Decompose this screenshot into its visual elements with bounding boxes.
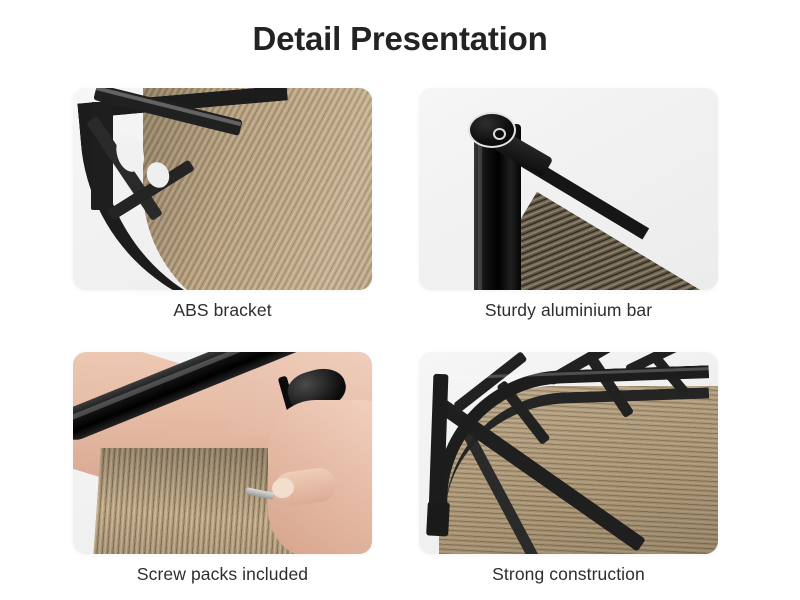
feature-caption: Sturdy aluminium bar: [419, 300, 718, 321]
feature-caption: ABS bracket: [73, 300, 372, 321]
feature-cell-screw-packs: Screw packs included: [73, 352, 372, 584]
feature-caption: Strong construction: [419, 564, 718, 585]
tube-inner-channel: [493, 128, 506, 140]
feature-cell-strong-construction: Strong construction: [419, 352, 718, 584]
feature-cell-abs-bracket: ABS bracket: [73, 88, 372, 320]
page-title: Detail Presentation: [0, 18, 800, 59]
tube-highlight: [478, 128, 482, 290]
feature-image-screw-packs[interactable]: [73, 352, 372, 554]
feature-caption: Screw packs included: [73, 564, 372, 585]
detail-presentation-page: Detail Presentation ABS bracket: [0, 0, 800, 600]
tube-cross-section: [468, 112, 516, 148]
feature-cell-aluminium-bar: Sturdy aluminium bar: [419, 88, 718, 320]
truss-wall-foot: [426, 501, 450, 536]
feature-grid: ABS bracket Sturdy aluminium bar: [73, 88, 718, 584]
feature-image-abs-bracket[interactable]: [73, 88, 372, 290]
feature-image-aluminium-bar[interactable]: [419, 88, 718, 290]
feature-image-strong-construction[interactable]: [419, 352, 718, 554]
